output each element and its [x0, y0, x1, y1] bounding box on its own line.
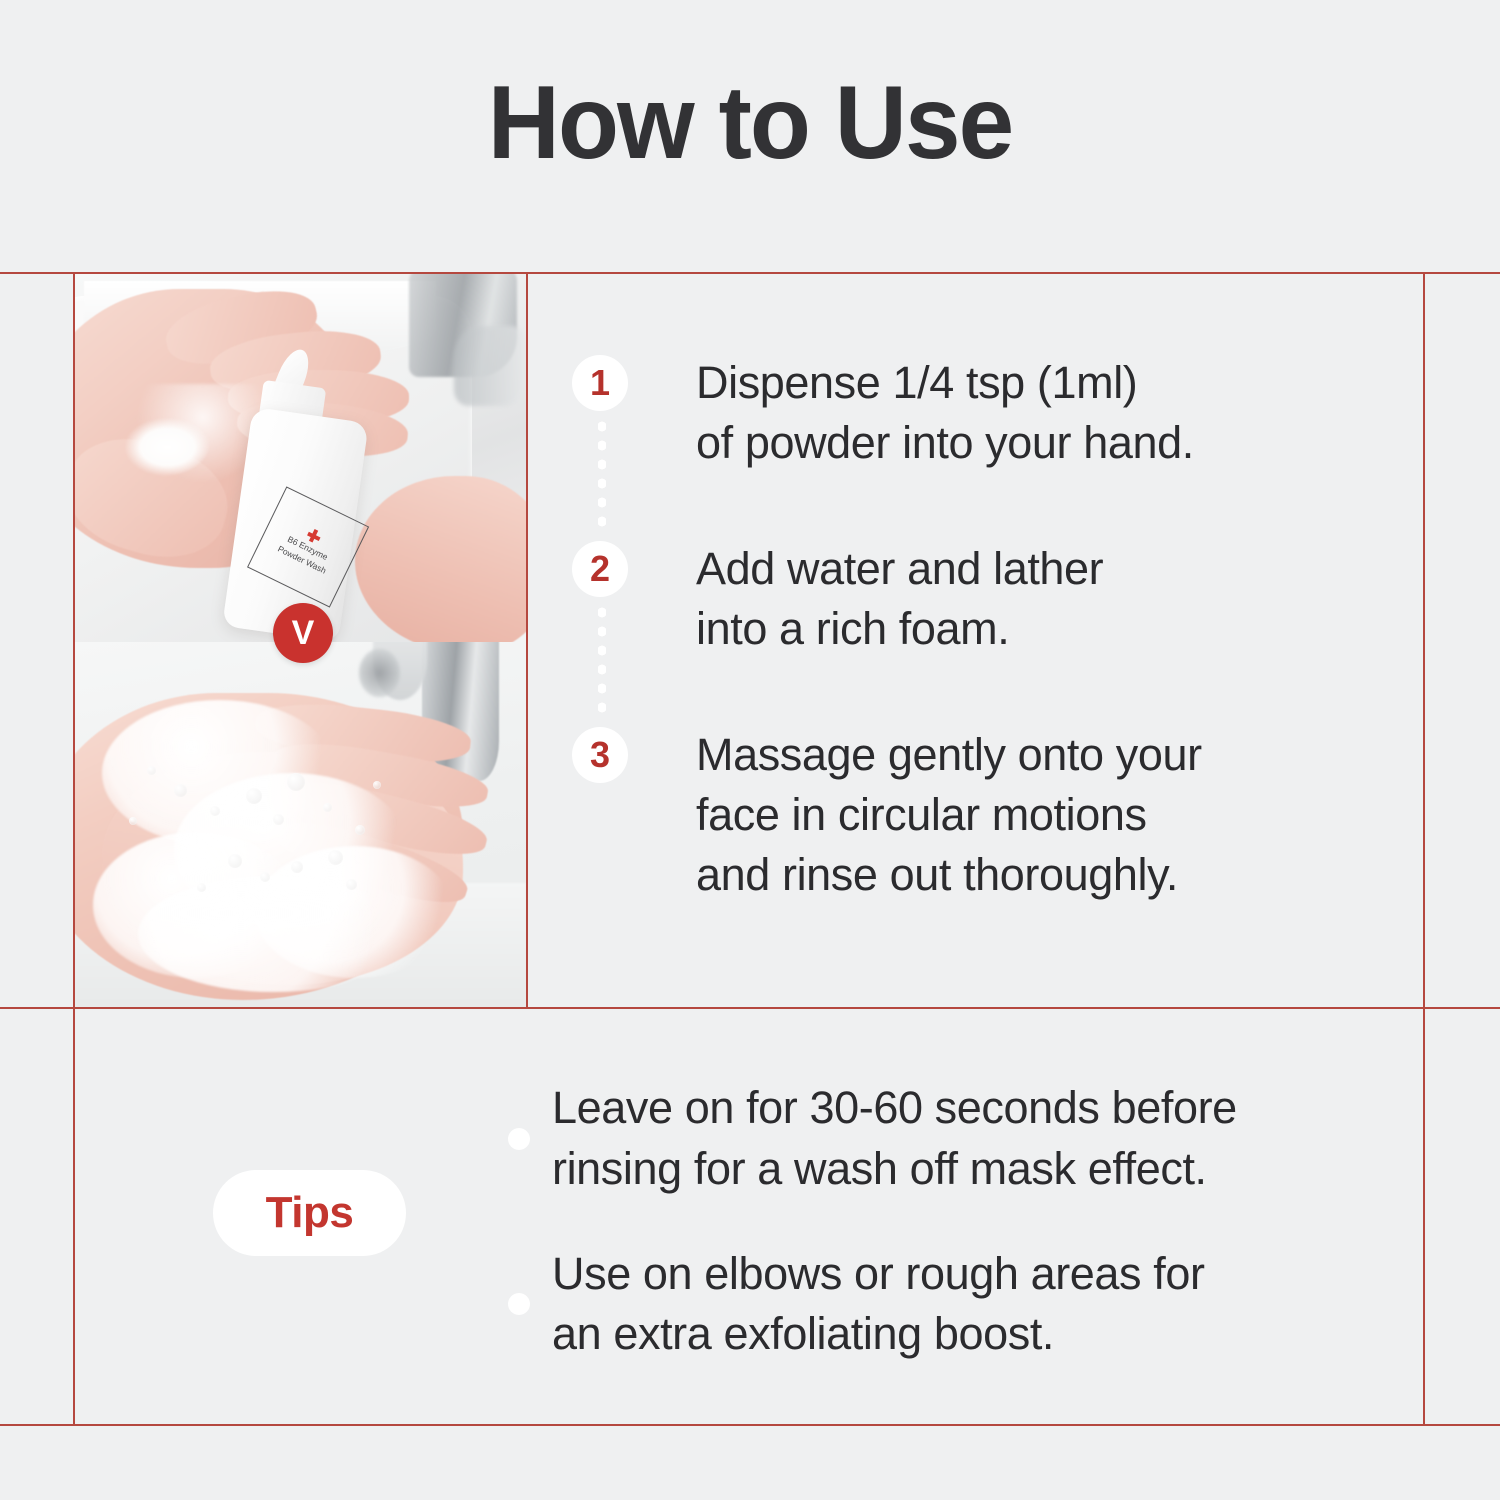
step-text: Dispense 1/4 tsp (1ml) of powder into yo… — [696, 353, 1194, 473]
bullet-icon — [508, 1128, 530, 1150]
photo-foam-lather — [75, 642, 526, 1007]
step-line: into a rich foam. — [696, 599, 1103, 659]
steps-list: 1 Dispense 1/4 tsp (1ml) of powder into … — [572, 355, 1412, 905]
step-line: Massage gently onto your — [696, 725, 1202, 785]
step-text: Add water and lather into a rich foam. — [696, 539, 1103, 659]
tips-badge: Tips — [213, 1170, 406, 1256]
divider-bottom — [0, 1424, 1500, 1426]
step-line: Add water and lather — [696, 539, 1103, 599]
tip-text: Use on elbows or rough areas for an extr… — [552, 1244, 1205, 1366]
tip-item: Leave on for 30-60 seconds before rinsin… — [508, 1078, 1408, 1200]
step-line: of powder into your hand. — [696, 413, 1194, 473]
step-number: 1 — [572, 355, 628, 411]
divider-middle — [0, 1007, 1500, 1009]
vegan-badge: V — [273, 603, 333, 663]
how-to-use-panel: How to Use B6 Enzyme — [0, 0, 1500, 1500]
tip-text: Leave on for 30-60 seconds before rinsin… — [552, 1078, 1237, 1200]
tips-list: Leave on for 30-60 seconds before rinsin… — [508, 1078, 1408, 1365]
photo-dispense-powder: B6 Enzyme Powder Wash — [75, 274, 526, 642]
step-item: 1 Dispense 1/4 tsp (1ml) of powder into … — [572, 355, 1412, 541]
tip-line: an extra exfoliating boost. — [552, 1304, 1205, 1365]
divider-right — [1423, 272, 1425, 1426]
tip-line: Leave on for 30-60 seconds before — [552, 1078, 1237, 1139]
step-item: 2 Add water and lather into a rich foam. — [572, 541, 1412, 727]
bullet-icon — [508, 1293, 530, 1315]
step-text: Massage gently onto your face in circula… — [696, 725, 1202, 905]
step-line: face in circular motions — [696, 785, 1202, 845]
step-number: 2 — [572, 541, 628, 597]
tip-line: Use on elbows or rough areas for — [552, 1244, 1205, 1305]
step-connector — [598, 603, 606, 715]
page-title: How to Use — [30, 70, 1470, 176]
step-item: 3 Massage gently onto your face in circu… — [572, 727, 1412, 905]
step-number: 3 — [572, 727, 628, 783]
step-line: Dispense 1/4 tsp (1ml) — [696, 353, 1194, 413]
step-line: and rinse out thoroughly. — [696, 845, 1202, 905]
tip-line: rinsing for a wash off mask effect. — [552, 1139, 1237, 1200]
step-connector — [598, 417, 606, 529]
divider-image-right — [526, 272, 528, 1009]
tip-item: Use on elbows or rough areas for an extr… — [508, 1244, 1408, 1366]
